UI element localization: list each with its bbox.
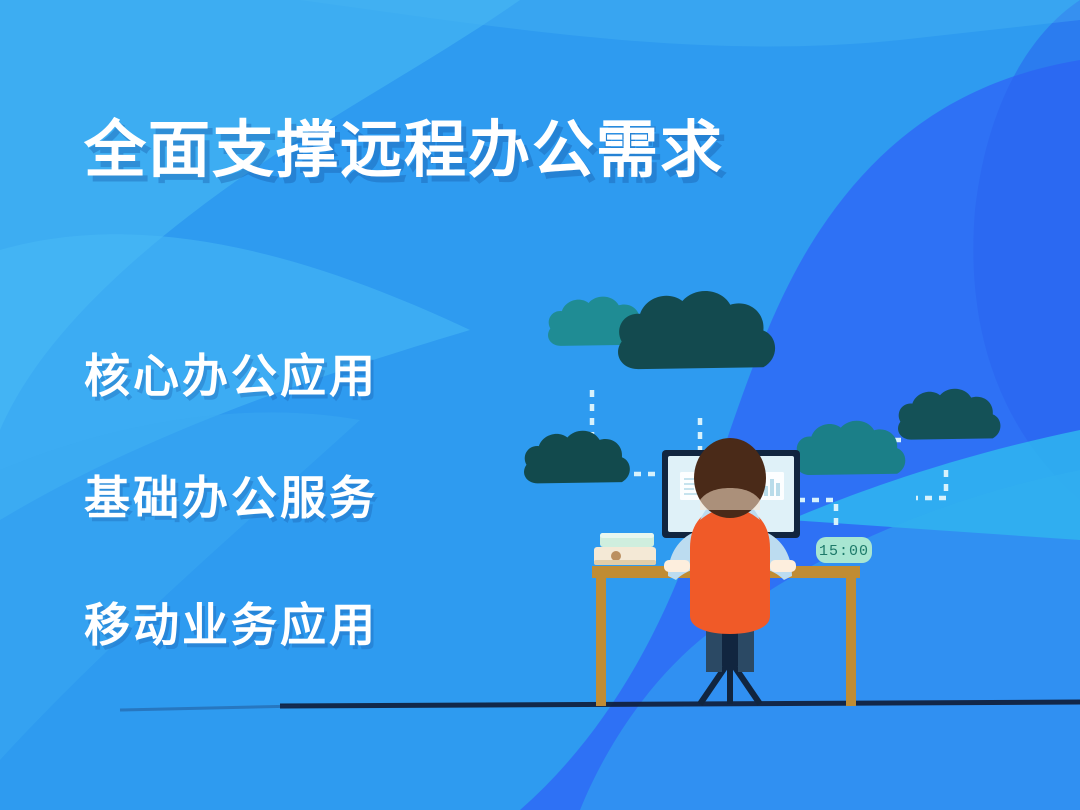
- poster-text: 全面支撑远程办公需求 核心办公应用 基础办公服务 移动业务应用: [0, 0, 1080, 810]
- page-title: 全面支撑远程办公需求: [84, 118, 724, 185]
- feature-item-basic-office-services: 基础办公服务: [84, 462, 378, 528]
- feature-item-mobile-business-apps: 移动业务应用: [84, 589, 378, 655]
- feature-item-core-office-apps: 核心办公应用: [84, 340, 378, 406]
- poster-canvas: 15:00: [0, 0, 1080, 810]
